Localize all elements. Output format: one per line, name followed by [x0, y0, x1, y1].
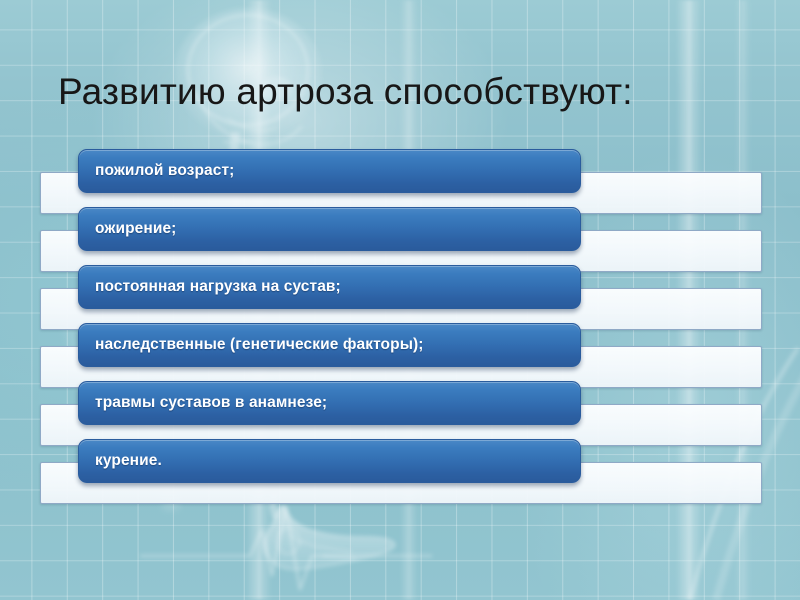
list-item-pill-6[interactable]: курение. — [78, 439, 581, 483]
list-item-label: ожирение; — [95, 220, 176, 238]
list-item[interactable]: травмы суставов в анамнезе; — [0, 378, 800, 436]
list-item[interactable]: наследственные (генетические факторы); — [0, 320, 800, 378]
list-item-pill-1[interactable]: пожилой возраст; — [78, 149, 581, 193]
list-item-pill-5[interactable]: травмы суставов в анамнезе; — [78, 381, 581, 425]
list-item[interactable]: курение. — [0, 436, 800, 494]
list-item-label: постоянная нагрузка на сустав; — [95, 278, 341, 296]
presentation-slide: Развитию артроза способствуют: пожилой в… — [0, 0, 800, 600]
list-item-label: травмы суставов в анамнезе; — [95, 394, 327, 412]
slide-title: Развитию артроза способствуют: — [58, 71, 758, 114]
list-item-pill-4[interactable]: наследственные (генетические факторы); — [78, 323, 581, 367]
list-item-label: пожилой возраст; — [95, 162, 234, 180]
list-item-pill-3[interactable]: постоянная нагрузка на сустав; — [78, 265, 581, 309]
list-item-pill-2[interactable]: ожирение; — [78, 207, 581, 251]
list-item[interactable]: пожилой возраст; — [0, 146, 800, 204]
list-item-label: наследственные (генетические факторы); — [95, 336, 424, 354]
list-item[interactable]: ожирение; — [0, 204, 800, 262]
list-item[interactable]: постоянная нагрузка на сустав; — [0, 262, 800, 320]
list-item-label: курение. — [95, 452, 162, 470]
factor-list: пожилой возраст; ожирение; постоянная на… — [0, 146, 800, 494]
